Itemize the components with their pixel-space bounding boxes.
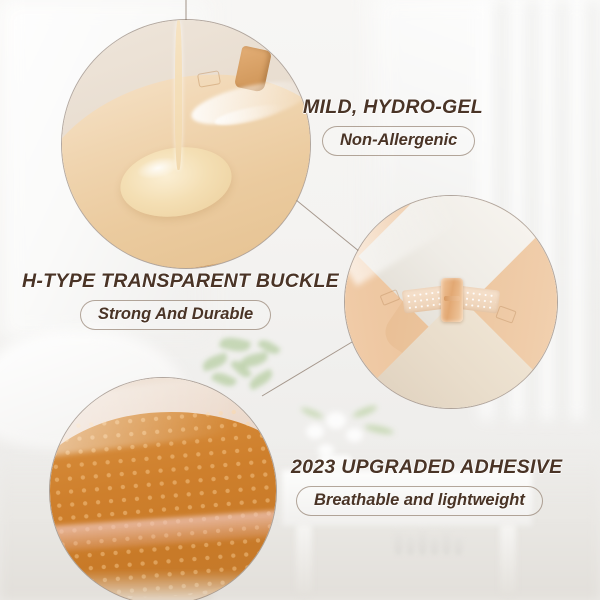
callout-hydro-gel: MILD, HYDRO-GEL Non-Allergenic bbox=[303, 96, 483, 156]
callout-buckle: H-TYPE TRANSPARENT BUCKLE Strong And Dur… bbox=[22, 270, 339, 330]
buckle-center-bar bbox=[444, 296, 460, 301]
h-type-buckle-photo bbox=[345, 196, 557, 408]
callout-pill-hydro-gel: Non-Allergenic bbox=[322, 126, 475, 156]
photo-floor-fade bbox=[50, 570, 276, 600]
adhesive-surface-photo bbox=[50, 378, 276, 600]
hydro-gel-pour-photo bbox=[62, 20, 310, 268]
gel-pour-stream bbox=[175, 20, 182, 170]
product-infographic: MILD, HYDRO-GEL Non-Allergenic H-TYPE TR… bbox=[0, 0, 600, 600]
callout-headline-hydro-gel: MILD, HYDRO-GEL bbox=[303, 96, 483, 119]
callout-adhesive: 2023 UPGRADED ADHESIVE Breathable and li… bbox=[291, 456, 562, 516]
callout-headline-adhesive: 2023 UPGRADED ADHESIVE bbox=[291, 456, 562, 479]
callout-pill-adhesive: Breathable and lightweight bbox=[296, 486, 543, 516]
strap-texture-right bbox=[457, 289, 497, 311]
strap-texture-left bbox=[405, 289, 445, 311]
callout-headline-buckle: H-TYPE TRANSPARENT BUCKLE bbox=[22, 270, 339, 293]
callout-pill-buckle: Strong And Durable bbox=[80, 300, 271, 330]
